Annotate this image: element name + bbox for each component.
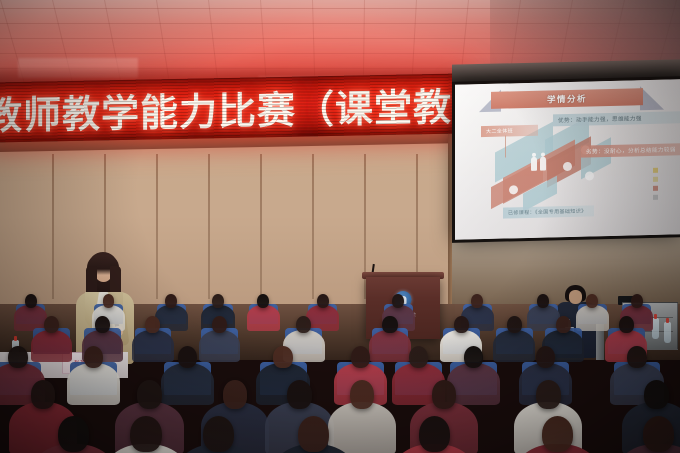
audience-member-head xyxy=(536,380,561,409)
audience-member-head xyxy=(317,294,329,308)
audience-member-head xyxy=(165,294,177,308)
audience-member-head xyxy=(223,380,248,409)
audience-member-head xyxy=(507,316,522,333)
audience-member-head xyxy=(542,416,573,452)
audience-member-head xyxy=(103,294,115,308)
audience-member-head xyxy=(350,380,375,409)
audience-member-head xyxy=(273,346,292,368)
audience-member-head xyxy=(537,294,549,308)
audience-member-body xyxy=(306,305,339,331)
audience-member-body xyxy=(161,363,214,404)
projection-screen: 学情分析 大二全体班 优势：动手能力强，思维 xyxy=(455,79,680,239)
photo-scene: 教师教学能力比赛（课堂教学）决赛 学情分析 xyxy=(0,0,680,453)
audience-member-body xyxy=(328,402,396,453)
slide-title-bar: 学情分析 xyxy=(491,88,643,109)
slide-leader-line xyxy=(505,136,506,158)
presentation-slide: 学情分析 大二全体班 优势：动手能力强，思维 xyxy=(455,79,680,239)
audience-member-head xyxy=(212,294,224,308)
audience-member-body xyxy=(31,330,73,362)
audience-member-head xyxy=(58,416,89,452)
slide-callout-disadvantage: 劣势：没耐心，分析总结能力较弱 xyxy=(581,143,680,158)
audience-member-body xyxy=(527,305,560,331)
audience-member-head xyxy=(586,294,598,308)
led-banner-text: 教师教学能力比赛（课堂教学）决赛 xyxy=(0,74,460,141)
audience-member-head xyxy=(644,380,669,409)
audience-member-head xyxy=(8,346,27,368)
audience-member-head xyxy=(296,316,311,333)
audience-member-body xyxy=(199,330,241,362)
audience-member-head xyxy=(25,294,37,308)
audience-member-body xyxy=(576,305,609,331)
audience-member-body xyxy=(493,330,535,362)
audience-member-head xyxy=(203,416,234,452)
led-banner: 教师教学能力比赛（课堂教学）决赛 xyxy=(0,74,460,143)
audience-member-head xyxy=(631,294,643,308)
audience-member-head xyxy=(619,316,634,333)
audience-member-head xyxy=(130,416,161,452)
audience-member-head xyxy=(627,346,646,368)
slide-title: 学情分析 xyxy=(547,92,587,105)
slide-callout-advantage: 优势：动手能力强，思维能力强 xyxy=(553,111,680,126)
audience-member-body xyxy=(14,305,47,331)
slide-marker-column xyxy=(653,168,658,204)
audience-member-head xyxy=(257,294,269,308)
audience-member-head xyxy=(44,316,59,333)
audience-member-head xyxy=(287,380,312,409)
audience-member-body xyxy=(67,363,120,404)
audience-member-head xyxy=(137,380,162,409)
slide-callout-bottom: 已修课程：《全国专用基础知识》 xyxy=(503,205,594,218)
slide-chevron-right-icon xyxy=(640,86,664,111)
audience-member-head xyxy=(145,316,160,333)
audience-member-head xyxy=(212,316,227,333)
audience-member-head xyxy=(31,380,56,409)
audience-member-head xyxy=(84,346,103,368)
slide-callout-left: 大二全体班 xyxy=(481,125,538,137)
audience-member-head xyxy=(382,316,397,333)
audience-member-head xyxy=(351,346,370,368)
audience-member-head xyxy=(392,294,404,308)
audience-member-head xyxy=(454,316,469,333)
iso-people-icon xyxy=(531,152,551,170)
slide-isometric-diagram xyxy=(485,124,635,214)
iso-node xyxy=(585,171,594,180)
audience-member-head xyxy=(471,294,483,308)
audience-member-head xyxy=(298,416,329,452)
seated-audience xyxy=(0,300,680,453)
audience-member-head xyxy=(178,346,197,368)
audience-member-head xyxy=(419,416,450,452)
audience-member-head xyxy=(643,416,674,452)
audience-member-head xyxy=(556,316,571,333)
audience-member-head xyxy=(432,380,457,409)
audience-member-head xyxy=(464,346,483,368)
audience-member-head xyxy=(409,346,428,368)
audience-member-body xyxy=(132,330,174,362)
audience-member-head xyxy=(95,316,110,333)
audience-member-body xyxy=(369,330,411,362)
audience-member-body xyxy=(247,305,280,331)
audience-member-head xyxy=(536,346,555,368)
